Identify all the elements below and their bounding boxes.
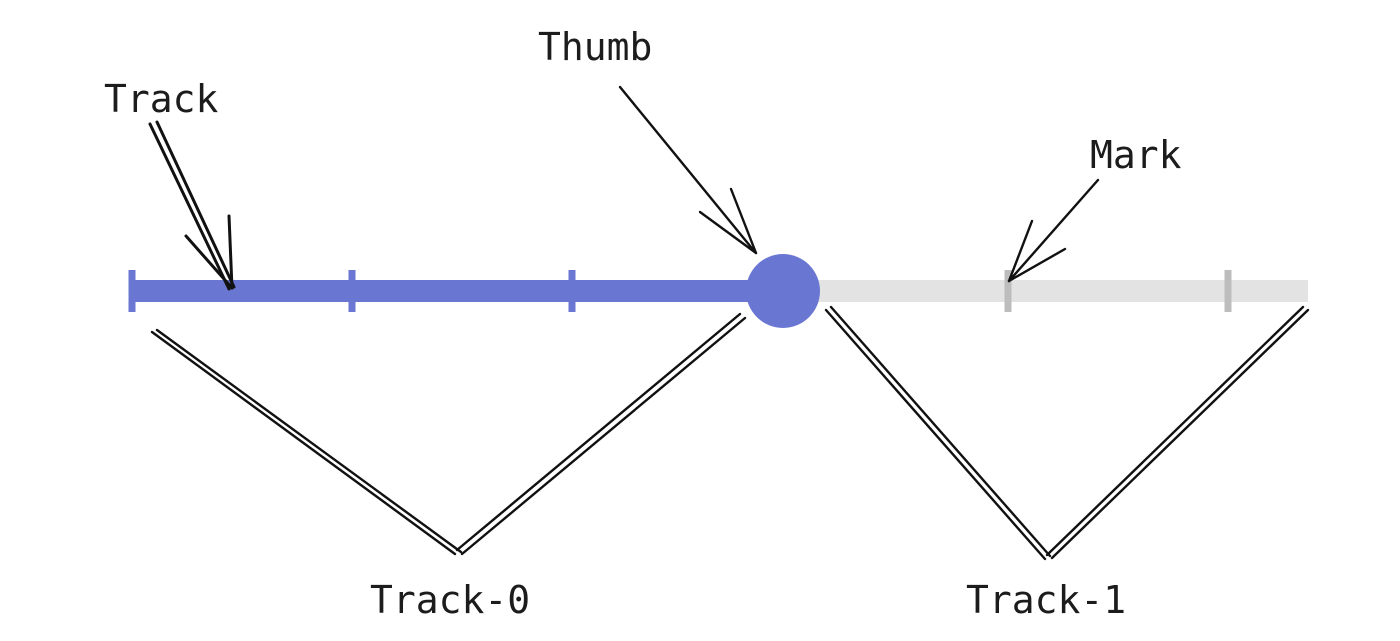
track0-brace-left-b bbox=[157, 330, 461, 552]
track0-brace-left-a bbox=[152, 332, 455, 554]
mark-arrow-shaft bbox=[1009, 180, 1098, 281]
slider-thumb[interactable] bbox=[746, 254, 820, 328]
slider-widget[interactable] bbox=[129, 254, 1309, 328]
slider-anatomy-diagram: Track Thumb Mark Track-0 bbox=[0, 0, 1400, 641]
annotation-track-1: Track-1 bbox=[826, 307, 1308, 622]
thumb-arrow-shaft bbox=[620, 87, 755, 252]
track1-brace-left-b bbox=[831, 307, 1050, 556]
slider-mark-1[interactable] bbox=[349, 270, 356, 312]
track1-brace-left-a bbox=[826, 310, 1045, 559]
diagram-canvas: Track Thumb Mark Track-0 bbox=[0, 0, 1400, 641]
slider-mark-2[interactable] bbox=[569, 270, 576, 312]
slider-mark-0[interactable] bbox=[129, 270, 136, 312]
track-arrow-shaft-a bbox=[157, 122, 234, 287]
annotation-label-thumb: Thumb bbox=[538, 25, 652, 69]
annotation-track-0: Track-0 bbox=[152, 314, 745, 622]
annotation-thumb: Thumb bbox=[538, 25, 756, 253]
track-arrow-shaft-b bbox=[150, 124, 229, 289]
track1-brace-right-b bbox=[1047, 307, 1303, 555]
track0-brace-right-b bbox=[457, 314, 740, 550]
annotation-label-track-1: Track-1 bbox=[966, 578, 1126, 622]
mark-arrow-head-lower bbox=[1009, 249, 1065, 281]
annotation-label-track-0: Track-0 bbox=[370, 578, 530, 622]
slider-mark-4[interactable] bbox=[1225, 270, 1232, 312]
annotation-track: Track bbox=[104, 77, 234, 289]
track1-brace-right-a bbox=[1052, 310, 1308, 558]
track0-brace-right-a bbox=[462, 318, 745, 554]
mark-arrow-head-upper bbox=[1009, 221, 1032, 281]
annotation-label-track: Track bbox=[104, 77, 219, 121]
annotation-label-mark: Mark bbox=[1090, 133, 1182, 177]
annotation-mark: Mark bbox=[1009, 133, 1182, 281]
